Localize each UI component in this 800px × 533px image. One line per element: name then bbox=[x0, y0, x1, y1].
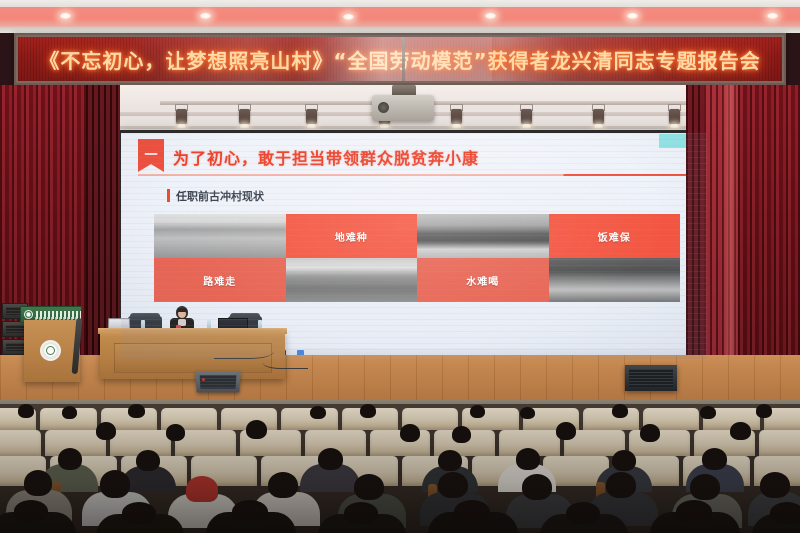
audience-head bbox=[690, 474, 720, 500]
downlight-icon bbox=[767, 13, 778, 19]
institution-emblem-icon bbox=[40, 340, 61, 361]
stage-monitor-speaker-right bbox=[625, 365, 677, 391]
audience-head bbox=[606, 472, 636, 498]
seat-row bbox=[0, 408, 800, 430]
grid-photo-cell bbox=[417, 214, 549, 258]
audience-head bbox=[96, 422, 116, 440]
audience-head bbox=[438, 450, 462, 471]
slide-title-rule bbox=[138, 174, 698, 176]
audience-head bbox=[770, 502, 800, 524]
audience-head bbox=[24, 470, 52, 496]
audience-head bbox=[310, 406, 326, 419]
downlight-icon bbox=[485, 13, 496, 19]
led-banner-screen: 《不忘初心，让梦想照亮山村》“全国劳动模范”获得者龙兴清同志专题报告会 bbox=[18, 37, 782, 81]
grid-label: 路难走 bbox=[203, 273, 236, 288]
audience-head bbox=[122, 502, 156, 524]
cable bbox=[262, 352, 308, 369]
audience-head bbox=[452, 426, 471, 443]
led-banner-text: 《不忘初心，让梦想照亮山村》“全国劳动模范”获得者龙兴清同志专题报告会 bbox=[39, 45, 760, 74]
audience-head bbox=[232, 500, 268, 523]
stage-light-icon bbox=[305, 104, 318, 126]
audience-head bbox=[556, 422, 576, 440]
audience-head bbox=[400, 424, 420, 442]
audience-head bbox=[520, 407, 535, 419]
audience-head bbox=[612, 404, 628, 418]
auditorium-seat bbox=[583, 408, 639, 430]
auditorium-seat bbox=[0, 430, 41, 456]
audience-head bbox=[128, 404, 145, 418]
audience-head bbox=[640, 424, 660, 442]
ceiling-soffit bbox=[0, 0, 800, 30]
downlight-icon bbox=[343, 14, 354, 20]
grid-label: 水难喝 bbox=[466, 273, 499, 288]
audience-head bbox=[516, 448, 540, 470]
stage-light-icon bbox=[668, 104, 681, 126]
audience-head bbox=[18, 404, 34, 418]
stage-light-icon bbox=[238, 104, 251, 126]
audience-head-red-beanie bbox=[186, 476, 218, 502]
subtitle-accent-bar bbox=[167, 189, 170, 202]
grid-label-cell: 饭难保 bbox=[549, 214, 681, 258]
wall-rail-secondary bbox=[0, 126, 800, 129]
banner-panel-seam bbox=[402, 37, 405, 81]
slide-title: 为了初心，敢于担当带领群众脱贫奔小康 bbox=[173, 145, 479, 169]
stage-light-icon bbox=[592, 104, 605, 126]
grid-photo-cell bbox=[286, 258, 418, 302]
stage-light-icon bbox=[520, 104, 533, 126]
audience-head bbox=[702, 448, 727, 470]
audience-head bbox=[522, 474, 552, 500]
audience-head bbox=[676, 500, 712, 523]
downlight-icon bbox=[60, 13, 71, 19]
audience-head bbox=[14, 500, 48, 522]
power-led-icon bbox=[202, 378, 205, 381]
audience-head bbox=[62, 406, 77, 419]
grid-photo-cell bbox=[154, 214, 286, 258]
audience-head bbox=[246, 420, 267, 439]
stage-light-icon bbox=[450, 104, 463, 126]
led-banner: 《不忘初心，让梦想照亮山村》“全国劳动模范”获得者龙兴清同志专题报告会 bbox=[14, 33, 786, 85]
audience-head bbox=[438, 472, 468, 498]
slide-ribbon-badge: 一 bbox=[138, 139, 164, 172]
grid-label-cell: 水难喝 bbox=[417, 258, 549, 302]
audience-head bbox=[354, 474, 384, 500]
projector-icon bbox=[372, 95, 434, 121]
grid-photo-cell bbox=[549, 258, 681, 302]
audience-head bbox=[344, 502, 378, 524]
audience-head bbox=[730, 422, 751, 440]
audience-head bbox=[454, 500, 490, 523]
grid-label: 地难种 bbox=[335, 229, 368, 244]
audience-head bbox=[566, 502, 600, 524]
chair-back bbox=[130, 313, 160, 323]
audience-area bbox=[0, 404, 800, 533]
grid-label-cell: 路难走 bbox=[154, 258, 286, 302]
audience-head bbox=[756, 404, 772, 418]
slide-corner-artifact bbox=[659, 134, 689, 148]
ribbon-number: 一 bbox=[144, 144, 157, 163]
audience-head bbox=[470, 405, 485, 418]
audience-head bbox=[136, 450, 160, 471]
slide-photo-grid: 地难种 饭难保 路难走 水难喝 bbox=[154, 214, 680, 302]
downlight-icon bbox=[627, 13, 638, 19]
auditorium-seat bbox=[759, 430, 800, 456]
slide-subtitle: 任职前古冲村现状 bbox=[176, 188, 264, 204]
audience-head bbox=[318, 448, 343, 470]
projector-lens-icon bbox=[378, 102, 389, 113]
downlight-icon bbox=[200, 13, 211, 19]
audience-head bbox=[58, 448, 82, 470]
audience-head bbox=[100, 470, 130, 498]
stage-monitor-speaker bbox=[195, 371, 240, 392]
grid-label: 饭难保 bbox=[598, 229, 631, 244]
audience-head bbox=[760, 472, 790, 498]
audience-head bbox=[166, 424, 185, 441]
audience-head bbox=[700, 406, 716, 419]
podium-sign-emblem-icon bbox=[24, 310, 33, 319]
audience-head bbox=[360, 404, 376, 418]
auditorium-scene: 《不忘初心，让梦想照亮山村》“全国劳动模范”获得者龙兴清同志专题报告会 一 bbox=[0, 0, 800, 533]
audience-head bbox=[268, 472, 298, 498]
grid-label-cell: 地难种 bbox=[286, 214, 418, 258]
stage-light-icon bbox=[175, 104, 188, 126]
audience-head bbox=[612, 450, 636, 471]
ceiling-strip bbox=[0, 0, 800, 7]
